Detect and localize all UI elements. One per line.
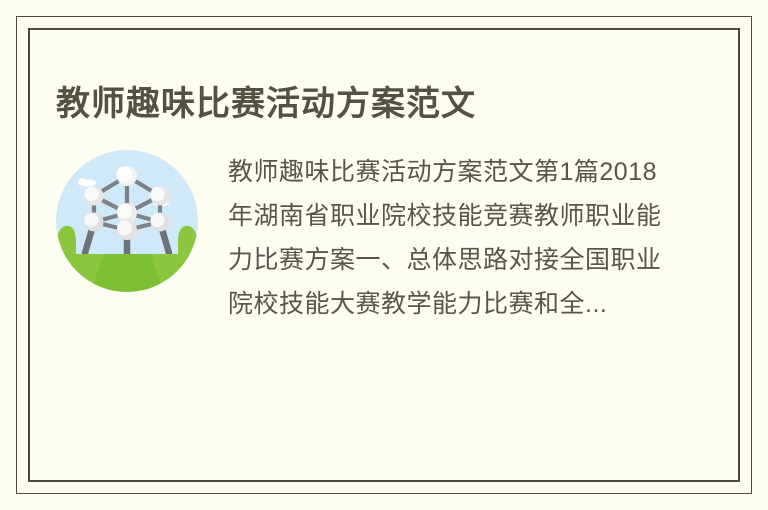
article-card: 教师趣味比赛活动方案范文	[0, 0, 768, 510]
article-content-row: 教师趣味比赛活动方案范文第1篇2018年湖南省职业院校技能竞赛教师职业能力比赛方…	[56, 150, 696, 326]
atomium-landscape-illustration	[56, 150, 198, 292]
atomium-icon	[56, 150, 198, 292]
article-excerpt: 教师趣味比赛活动方案范文第1篇2018年湖南省职业院校技能竞赛教师职业能力比赛方…	[228, 150, 668, 326]
page-title: 教师趣味比赛活动方案范文	[56, 83, 476, 126]
